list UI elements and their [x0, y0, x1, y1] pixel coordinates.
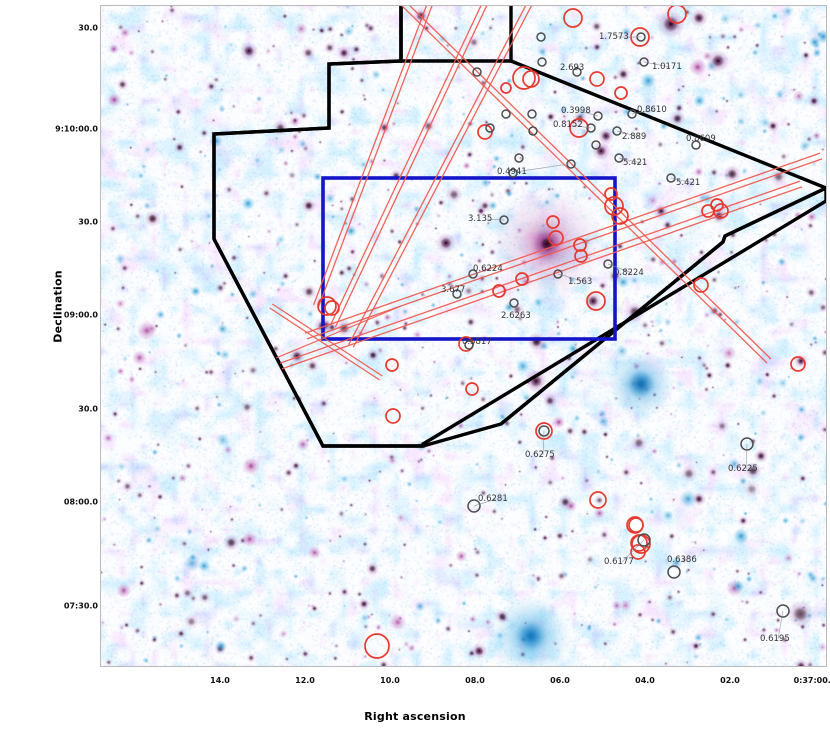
y-tick-label: 9:10:00.0: [6, 125, 98, 134]
red-source-circle[interactable]: [547, 216, 559, 228]
grey-source-circle[interactable]: [668, 566, 680, 578]
grey-source-circle[interactable]: [515, 154, 523, 162]
nicmos-field-box[interactable]: [323, 178, 615, 339]
spectrograph-slit-line: [276, 306, 401, 358]
red-source-circle[interactable]: [629, 518, 643, 532]
x-axis-title: Right ascension: [0, 710, 830, 723]
red-source-circle[interactable]: [590, 492, 606, 508]
y-axis-tick-labels: 30.09:10:00.030.009:00.030.008:00.007:30…: [0, 0, 98, 665]
red-source-circle[interactable]: [791, 357, 805, 371]
source-redshift-label: 0.8610: [637, 105, 667, 115]
grey-source-circle[interactable]: [502, 110, 510, 118]
grey-source-circle[interactable]: [510, 299, 518, 307]
red-source-circle[interactable]: [590, 72, 604, 86]
source-redshift-label: 0.5817: [462, 337, 492, 347]
y-tick-label: 30.0: [6, 405, 98, 414]
spectrograph-slit-line: [403, 6, 771, 359]
source-redshift-label: 0.6224: [473, 264, 503, 274]
x-tick-label: 08.0: [465, 676, 485, 685]
x-tick-label: 02.0: [720, 676, 740, 685]
red-source-circle[interactable]: [615, 87, 627, 99]
y-tick-label: 08:00.0: [6, 498, 98, 507]
source-redshift-label: 0.6225: [728, 464, 758, 474]
x-tick-label: 04.0: [635, 676, 655, 685]
grey-source-circle[interactable]: [592, 141, 600, 149]
acs-footprint-bottom-edge: [214, 239, 423, 446]
x-tick-label: 12.0: [295, 676, 315, 685]
red-source-circle[interactable]: [587, 292, 605, 310]
grey-source-circle[interactable]: [537, 33, 545, 41]
source-redshift-label: 5.421: [676, 178, 700, 188]
source-redshift-label: 0.6195: [760, 634, 790, 644]
source-redshift-label: 0.8609: [686, 134, 716, 144]
source-redshift-label: 5.421: [623, 158, 647, 168]
red-source-circle[interactable]: [365, 634, 389, 658]
acs-footprint-outline: [214, 6, 826, 446]
spectrograph-slit-line: [305, 153, 820, 333]
source-redshift-label: 2.693: [560, 63, 584, 73]
overlay-regions: [101, 6, 826, 666]
x-tick-label: 10.0: [380, 676, 400, 685]
source-redshift-label: 0.8152: [553, 120, 583, 130]
spectrograph-slit-line: [331, 6, 484, 325]
source-redshift-label: 0.6275: [525, 450, 555, 460]
source-redshift-label: 2.6263: [501, 311, 531, 321]
source-redshift-label: 3.135: [468, 214, 492, 224]
source-redshift-label: 0.6281: [478, 494, 508, 504]
y-tick-label: 07:30.0: [6, 602, 98, 611]
spectrograph-slit-line: [335, 6, 488, 327]
source-redshift-label: 1.0171: [652, 62, 682, 72]
source-redshift-label: 2.889: [622, 132, 646, 142]
y-tick-label: 30.0: [6, 24, 98, 33]
red-source-circle[interactable]: [523, 71, 539, 87]
acs-footprint-top-edge: [401, 6, 511, 61]
red-source-circle[interactable]: [702, 205, 714, 217]
figure-root: Declination 30.09:10:00.030.009:00.030.0…: [0, 0, 830, 750]
spectrograph-slit-line: [314, 6, 429, 305]
red-source-circle[interactable]: [386, 359, 398, 371]
source-redshift-label: 0.6386: [667, 555, 697, 565]
red-source-circle[interactable]: [668, 6, 686, 23]
source-redshift-label: 3.677: [441, 285, 465, 295]
y-tick-label: 09:00.0: [6, 311, 98, 320]
red-source-circle[interactable]: [564, 9, 582, 27]
acs-footprint-left-edge: [214, 6, 401, 239]
source-redshift-label: 0.6177: [604, 557, 634, 567]
source-redshift-label: 1.563: [568, 277, 592, 287]
source-redshift-label: 0.4941: [497, 167, 527, 177]
x-tick-label: 06.0: [550, 676, 570, 685]
grey-source-circle[interactable]: [538, 58, 546, 66]
x-tick-label: 14.0: [210, 676, 230, 685]
red-source-circle[interactable]: [501, 83, 511, 93]
source-redshift-label: 0.3998: [561, 106, 591, 116]
x-tick-label: 0:37:00.0: [794, 676, 830, 685]
red-source-circle[interactable]: [466, 383, 478, 395]
sky-image-plot[interactable]: 1.75732.6931.01710.39980.81520.86102.889…: [100, 5, 827, 667]
source-redshift-label: 1.7573: [599, 32, 629, 42]
y-tick-label: 30.0: [6, 218, 98, 227]
red-source-circle[interactable]: [386, 409, 400, 423]
spectrograph-slit-line: [282, 187, 802, 369]
red-source-circle[interactable]: [549, 231, 563, 245]
grey-source-circle[interactable]: [528, 110, 536, 118]
source-redshift-label: 0.8224: [614, 268, 644, 278]
